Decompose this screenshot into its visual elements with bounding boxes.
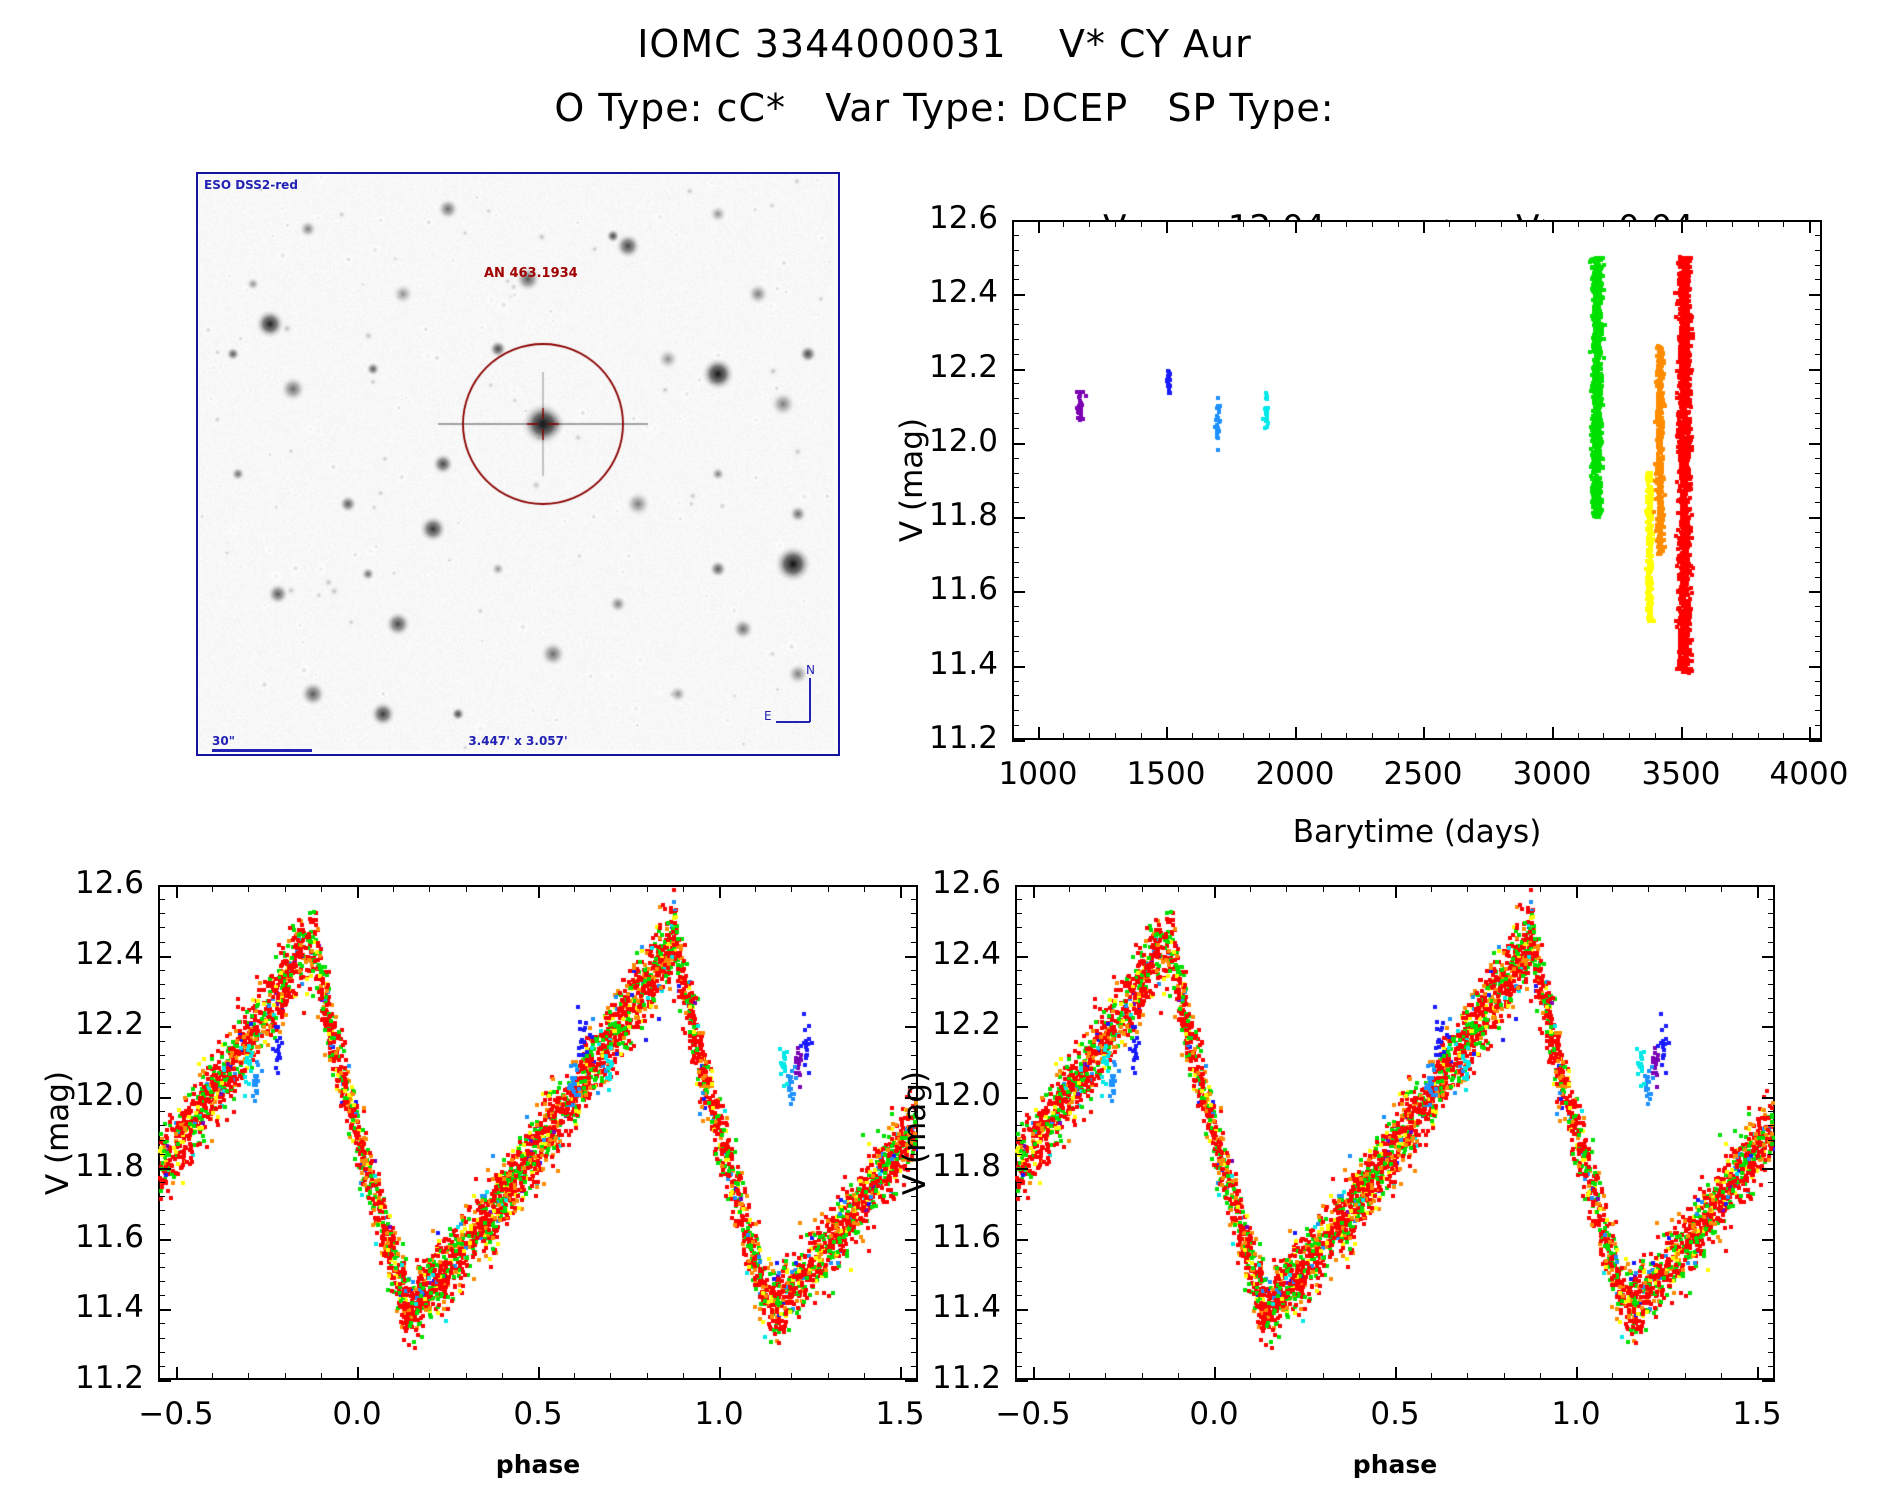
axis-tick — [1762, 1380, 1775, 1382]
axis-tick — [502, 1373, 503, 1380]
axis-tick-label: 11.8 — [932, 1148, 1001, 1184]
axis-tick-label: 1.0 — [694, 1396, 743, 1432]
axis-tick — [1015, 1168, 1028, 1170]
phase-vsx-plot[interactable]: −0.50.00.51.01.511.211.411.611.812.012.2… — [1015, 885, 1775, 1380]
axis-tick — [429, 1373, 430, 1380]
axis-tick — [911, 1041, 918, 1042]
axis-tick — [755, 885, 756, 892]
axis-tick — [1105, 1373, 1106, 1380]
axis-tick — [1015, 1012, 1022, 1013]
axis-tick-label: 11.4 — [932, 1289, 1001, 1325]
axis-tick — [1815, 636, 1822, 637]
axis-tick — [905, 956, 918, 958]
axis-tick — [1762, 885, 1775, 887]
axis-tick — [1250, 1373, 1251, 1380]
axis-tick — [1768, 1140, 1775, 1141]
axis-tick — [1015, 998, 1022, 999]
axis-tick — [1269, 733, 1270, 740]
axis-tick — [1449, 733, 1450, 740]
axis-tick-label: 0.0 — [332, 1396, 381, 1432]
axis-tick — [429, 885, 430, 892]
axis-tick — [357, 1367, 359, 1380]
axis-tick — [911, 984, 918, 985]
axis-tick-label: 0.5 — [513, 1396, 562, 1432]
axis-tick — [1295, 220, 1297, 233]
axis-tick — [755, 1373, 756, 1380]
axis-tick — [1015, 1323, 1022, 1324]
axis-tick — [911, 899, 918, 900]
axis-tick — [1655, 733, 1656, 740]
axis-tick — [905, 1380, 918, 1382]
axis-tick — [1015, 1196, 1022, 1197]
page-title: IOMC 3344000031 V* CY Aur — [0, 22, 1889, 66]
axis-tick — [911, 1253, 918, 1254]
axis-tick — [1115, 733, 1116, 740]
axis-tick — [1757, 1367, 1759, 1380]
axis-tick — [1815, 725, 1822, 726]
axis-tick — [158, 1239, 171, 1241]
axis-tick — [1706, 733, 1707, 740]
timeseries-plot[interactable]: 100015002000250030003500400011.211.411.6… — [1012, 220, 1822, 740]
axis-tick — [911, 1295, 918, 1296]
axis-tick-label: 3500 — [1642, 756, 1721, 792]
axis-tick-label: 11.6 — [929, 571, 998, 607]
axis-tick-label: −0.5 — [995, 1396, 1070, 1432]
axis-tick — [1540, 885, 1541, 892]
sky-image-canvas — [198, 174, 834, 750]
axis-tick — [1768, 1069, 1775, 1070]
axis-tick — [1768, 1352, 1775, 1353]
axis-tick — [1015, 1055, 1022, 1056]
axis-tick — [1685, 1373, 1686, 1380]
axis-tick — [1012, 458, 1019, 459]
axis-tick — [158, 1168, 171, 1170]
axis-tick-label: 12.0 — [929, 423, 998, 459]
axis-tick — [1809, 740, 1822, 742]
axis-tick — [1721, 1373, 1722, 1380]
axis-tick — [158, 970, 165, 971]
axis-tick — [791, 1373, 792, 1380]
axis-tick — [911, 1281, 918, 1282]
axis-tick — [1540, 1373, 1541, 1380]
axis-tick — [1166, 727, 1168, 740]
axis-tick — [1012, 220, 1025, 222]
axis-tick — [1395, 1367, 1397, 1380]
axis-tick — [158, 1012, 165, 1013]
axis-tick — [1063, 733, 1064, 740]
axis-tick — [1012, 606, 1019, 607]
axis-tick-label: 11.2 — [75, 1360, 144, 1396]
axis-tick-label: 12.0 — [75, 1077, 144, 1113]
axis-tick — [1815, 279, 1822, 280]
axis-tick — [1815, 398, 1822, 399]
axis-tick — [1815, 324, 1822, 325]
axis-tick — [1423, 727, 1425, 740]
axis-tick — [1768, 1055, 1775, 1056]
axis-tick — [1815, 547, 1822, 548]
axis-tick — [1815, 354, 1822, 355]
axis-tick — [1768, 1295, 1775, 1296]
axis-tick — [158, 1338, 165, 1339]
axis-tick — [1648, 885, 1649, 892]
timeseries-datapoints — [1012, 220, 1822, 740]
axis-tick — [1372, 220, 1373, 227]
sky-scalebar — [212, 749, 312, 752]
axis-tick-label: 11.4 — [75, 1289, 144, 1325]
axis-tick — [393, 1373, 394, 1380]
axis-tick — [1768, 1338, 1775, 1339]
axis-tick — [1815, 577, 1822, 578]
x-axis-title: phase — [158, 1450, 918, 1479]
axis-tick — [538, 1367, 540, 1380]
axis-tick — [1768, 1111, 1775, 1112]
axis-tick — [1475, 733, 1476, 740]
axis-tick — [1398, 220, 1399, 227]
sky-object-annotation: AN 463.1934 — [484, 266, 578, 281]
axis-tick — [1768, 942, 1775, 943]
axis-tick — [1063, 220, 1064, 227]
axis-tick — [1012, 562, 1019, 563]
axis-tick — [1015, 1154, 1022, 1155]
axis-tick — [1504, 1373, 1505, 1380]
axis-tick-label: 12.4 — [932, 936, 1001, 972]
axis-tick — [647, 885, 648, 892]
axis-tick-label: 2500 — [1384, 756, 1463, 792]
axis-tick — [1012, 309, 1019, 310]
axis-tick — [1346, 733, 1347, 740]
axis-tick — [1015, 885, 1028, 887]
axis-tick — [1576, 885, 1578, 898]
sky-image-panel[interactable]: ESO DSS2-red 30" 3.447' x 3.057' AN 463.… — [196, 172, 840, 756]
axis-tick — [1809, 591, 1822, 593]
axis-tick — [1015, 1338, 1022, 1339]
axis-tick — [1721, 885, 1722, 892]
axis-tick — [321, 1373, 322, 1380]
axis-tick — [1768, 970, 1775, 971]
axis-tick — [1323, 885, 1324, 892]
phase-omc-datapoints — [158, 885, 918, 1380]
axis-tick — [1012, 294, 1025, 296]
axis-tick — [502, 885, 503, 892]
axis-tick — [1015, 1309, 1028, 1311]
axis-tick — [1012, 740, 1025, 742]
axis-tick — [158, 1125, 165, 1126]
axis-tick — [1015, 956, 1028, 958]
axis-tick-label: 1.5 — [875, 1396, 924, 1432]
axis-tick — [466, 1373, 467, 1380]
axis-tick — [1603, 733, 1604, 740]
axis-tick — [158, 885, 171, 887]
axis-tick — [1012, 339, 1019, 340]
axis-tick — [1012, 354, 1019, 355]
axis-tick — [1012, 591, 1025, 593]
axis-tick-label: 12.2 — [75, 1006, 144, 1042]
axis-tick — [1012, 725, 1019, 726]
axis-tick — [1012, 621, 1019, 622]
axis-tick — [158, 1281, 165, 1282]
axis-tick — [1815, 606, 1822, 607]
axis-tick — [393, 885, 394, 892]
axis-tick — [1295, 727, 1297, 740]
axis-tick — [1015, 1140, 1022, 1141]
axis-tick-label: 1.5 — [1732, 1396, 1781, 1432]
axis-tick — [1768, 1267, 1775, 1268]
axis-tick — [158, 998, 165, 999]
axis-tick — [1192, 220, 1193, 227]
axis-tick — [683, 885, 684, 892]
axis-tick — [1783, 220, 1784, 227]
axis-tick — [1089, 733, 1090, 740]
axis-tick — [1012, 324, 1019, 325]
axis-tick-label: −0.5 — [138, 1396, 213, 1432]
axis-tick — [1526, 733, 1527, 740]
axis-tick — [905, 1026, 918, 1028]
axis-tick — [1069, 885, 1070, 892]
axis-tick-label: 11.8 — [75, 1148, 144, 1184]
axis-tick — [1758, 220, 1759, 227]
axis-tick — [1655, 220, 1656, 227]
axis-tick — [1269, 220, 1270, 227]
axis-tick — [1142, 885, 1143, 892]
axis-tick — [1372, 733, 1373, 740]
axis-tick — [1012, 279, 1019, 280]
axis-tick — [905, 1239, 918, 1241]
axis-tick — [1012, 681, 1019, 682]
axis-tick — [1768, 1281, 1775, 1282]
axis-tick — [1038, 727, 1040, 740]
axis-tick — [158, 1267, 165, 1268]
axis-tick — [864, 885, 865, 892]
axis-tick — [158, 1224, 165, 1225]
axis-tick — [158, 1069, 165, 1070]
axis-tick — [911, 970, 918, 971]
axis-tick — [285, 1373, 286, 1380]
axis-tick — [1015, 1210, 1022, 1211]
axis-tick — [1015, 1366, 1022, 1367]
axis-tick — [1012, 547, 1019, 548]
axis-tick — [1603, 220, 1604, 227]
axis-tick-label: 0.5 — [1370, 1396, 1419, 1432]
axis-tick — [1762, 1309, 1775, 1311]
axis-tick — [1015, 1295, 1022, 1296]
axis-tick — [1576, 1367, 1578, 1380]
axis-tick — [212, 885, 213, 892]
axis-tick — [1192, 733, 1193, 740]
axis-tick — [158, 1154, 165, 1155]
axis-tick-label: 12.6 — [929, 200, 998, 236]
axis-tick — [1809, 220, 1822, 222]
axis-tick — [1762, 956, 1775, 958]
axis-tick — [1809, 517, 1822, 519]
axis-tick — [683, 1373, 684, 1380]
axis-tick — [911, 942, 918, 943]
axis-tick — [1214, 1367, 1216, 1380]
axis-tick — [911, 1267, 918, 1268]
axis-tick — [158, 1253, 165, 1254]
axis-tick — [1768, 1154, 1775, 1155]
axis-tick-label: 11.8 — [929, 497, 998, 533]
axis-tick — [1012, 636, 1019, 637]
axis-tick — [905, 885, 918, 887]
axis-tick — [1015, 984, 1022, 985]
axis-tick — [158, 984, 165, 985]
axis-tick — [158, 1323, 165, 1324]
axis-tick — [1012, 443, 1025, 445]
axis-tick — [1321, 220, 1322, 227]
axis-tick — [1012, 577, 1019, 578]
axis-tick — [158, 1041, 165, 1042]
axis-tick — [158, 1196, 165, 1197]
axis-tick — [1809, 443, 1822, 445]
phase-omc-plot[interactable]: −0.50.00.51.01.511.211.411.611.812.012.2… — [158, 885, 918, 1380]
axis-tick — [1501, 733, 1502, 740]
axis-tick — [158, 1111, 165, 1112]
axis-tick — [1809, 369, 1822, 371]
page-subtitle: O Type: cC* Var Type: DCEP SP Type: — [0, 86, 1889, 130]
axis-tick — [1012, 413, 1019, 414]
axis-tick — [911, 1323, 918, 1324]
axis-tick-label: 11.6 — [932, 1219, 1001, 1255]
axis-tick — [1762, 1168, 1775, 1170]
axis-tick — [911, 1338, 918, 1339]
compass-icon: N E — [764, 664, 820, 736]
axis-tick-label: 11.6 — [75, 1219, 144, 1255]
axis-tick — [1815, 695, 1822, 696]
axis-tick — [1809, 666, 1822, 668]
axis-tick-label: 11.2 — [929, 720, 998, 756]
axis-tick — [176, 885, 178, 898]
axis-tick — [1768, 1323, 1775, 1324]
axis-tick — [1815, 413, 1822, 414]
axis-tick — [1015, 1253, 1022, 1254]
axis-tick — [1815, 710, 1822, 711]
axis-tick — [158, 1140, 165, 1141]
axis-tick — [466, 885, 467, 892]
axis-tick — [900, 1367, 902, 1380]
axis-tick — [1681, 727, 1683, 740]
axis-tick — [1359, 885, 1360, 892]
axis-tick — [1012, 532, 1019, 533]
axis-tick — [158, 942, 165, 943]
axis-tick — [911, 1352, 918, 1353]
axis-tick — [1815, 532, 1822, 533]
axis-tick — [1015, 1097, 1028, 1099]
axis-tick — [1685, 885, 1686, 892]
axis-tick — [158, 956, 171, 958]
axis-tick — [1612, 885, 1613, 892]
axis-tick — [1115, 220, 1116, 227]
axis-tick-label: 1.0 — [1551, 1396, 1600, 1432]
axis-tick-label: 12.2 — [932, 1006, 1001, 1042]
axis-tick — [791, 885, 792, 892]
axis-tick — [610, 885, 611, 892]
axis-tick — [1286, 885, 1287, 892]
axis-tick-label: 4000 — [1770, 756, 1849, 792]
axis-tick-label: 12.4 — [75, 936, 144, 972]
axis-tick — [1526, 220, 1527, 227]
axis-tick — [1015, 1224, 1022, 1225]
axis-tick — [1012, 517, 1025, 519]
axis-tick — [158, 1097, 171, 1099]
axis-tick — [1815, 265, 1822, 266]
axis-tick-label: 12.6 — [932, 865, 1001, 901]
axis-tick — [1038, 220, 1040, 233]
axis-tick — [1768, 1182, 1775, 1183]
axis-tick — [357, 885, 359, 898]
x-axis-title: phase — [1015, 1450, 1775, 1479]
axis-tick — [1732, 220, 1733, 227]
axis-tick — [1178, 885, 1179, 892]
axis-tick — [1815, 428, 1822, 429]
axis-tick — [1815, 250, 1822, 251]
axis-tick — [158, 1366, 165, 1367]
axis-tick — [1768, 1224, 1775, 1225]
axis-tick — [248, 885, 249, 892]
axis-tick — [1815, 487, 1822, 488]
axis-tick — [1243, 220, 1244, 227]
report-page: IOMC 3344000031 V* CY Aur O Type: cC* Va… — [0, 0, 1889, 1494]
axis-tick — [719, 1367, 721, 1380]
axis-tick — [1475, 220, 1476, 227]
axis-tick — [1012, 666, 1025, 668]
axis-tick — [158, 1210, 165, 1211]
axis-tick — [1015, 1041, 1022, 1042]
svg-text:E: E — [764, 709, 772, 723]
axis-tick — [1141, 220, 1142, 227]
axis-tick — [1142, 1373, 1143, 1380]
axis-tick — [1012, 487, 1019, 488]
axis-tick — [158, 1295, 165, 1296]
axis-tick — [176, 1367, 178, 1380]
axis-tick — [610, 1373, 611, 1380]
y-axis-title: V (mag) — [40, 1053, 76, 1213]
axis-tick — [911, 998, 918, 999]
axis-tick — [1012, 383, 1019, 384]
axis-tick — [574, 1373, 575, 1380]
axis-tick — [1346, 220, 1347, 227]
axis-tick — [1243, 733, 1244, 740]
sky-survey-label: ESO DSS2-red — [204, 178, 298, 192]
axis-tick — [905, 1309, 918, 1311]
axis-tick — [1612, 1373, 1613, 1380]
axis-tick — [1768, 1196, 1775, 1197]
axis-tick — [1762, 1026, 1775, 1028]
axis-tick — [1015, 1281, 1022, 1282]
axis-tick — [1033, 1367, 1035, 1380]
axis-tick — [1768, 1012, 1775, 1013]
axis-tick — [1501, 220, 1502, 227]
axis-tick — [1015, 1239, 1028, 1241]
axis-tick — [1015, 1083, 1022, 1084]
axis-tick — [158, 1026, 171, 1028]
axis-tick — [1815, 621, 1822, 622]
axis-tick-label: 12.2 — [929, 349, 998, 385]
axis-tick — [1012, 369, 1025, 371]
axis-tick — [1768, 984, 1775, 985]
axis-tick — [1815, 562, 1822, 563]
phase-vsx-datapoints — [1015, 885, 1775, 1380]
axis-tick — [1015, 913, 1022, 914]
axis-tick — [1648, 1373, 1649, 1380]
axis-tick — [1015, 899, 1022, 900]
axis-tick — [1286, 1373, 1287, 1380]
axis-tick-label: 12.6 — [75, 865, 144, 901]
axis-tick — [1504, 885, 1505, 892]
axis-tick — [1629, 220, 1630, 227]
axis-tick — [1706, 220, 1707, 227]
axis-tick — [1423, 220, 1425, 233]
axis-tick-label: 11.4 — [929, 646, 998, 682]
